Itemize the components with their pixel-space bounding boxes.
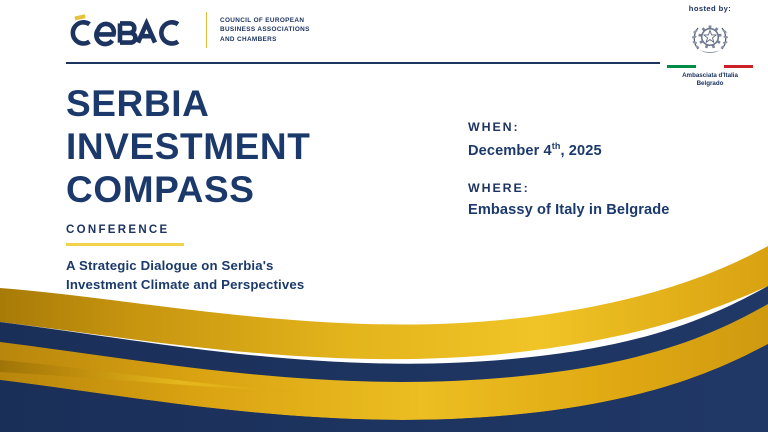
logo-divider xyxy=(206,12,207,48)
kicker-underline xyxy=(66,243,184,246)
poster-header: COUNCIL OF EUROPEAN BUSINESS ASSOCIATION… xyxy=(0,0,768,70)
italy-tricolor-icon xyxy=(667,65,753,68)
event-tagline: A Strategic Dialogue on Serbia's Investm… xyxy=(66,256,304,294)
where-group: WHERE: Embassy of Italy in Belgrade xyxy=(468,181,670,218)
conference-kicker: CONFERENCE xyxy=(66,224,184,236)
emblem-of-italy-icon xyxy=(687,16,733,62)
where-label: WHERE: xyxy=(468,181,670,195)
event-poster: COUNCIL OF EUROPEAN BUSINESS ASSOCIATION… xyxy=(0,0,768,432)
tricolor-white xyxy=(696,65,725,68)
embassy-caption: Ambasciata d'Italia Belgrado xyxy=(660,72,760,89)
tricolor-red xyxy=(724,65,753,68)
cebac-logo-tagline: COUNCIL OF EUROPEAN BUSINESS ASSOCIATION… xyxy=(220,16,310,44)
cebac-wordmark-icon xyxy=(66,11,194,49)
conference-kicker-group: CONFERENCE xyxy=(66,224,184,246)
when-date-rest: , 2025 xyxy=(561,143,602,159)
when-date-prefix: December 4 xyxy=(468,143,552,159)
when-date-ordinal: th xyxy=(552,141,561,151)
event-details: WHEN: December 4th, 2025 WHERE: Embassy … xyxy=(468,120,670,240)
tricolor-green xyxy=(667,65,696,68)
when-group: WHEN: December 4th, 2025 xyxy=(468,120,670,159)
when-value: December 4th, 2025 xyxy=(468,141,670,159)
when-label: WHEN: xyxy=(468,120,670,134)
header-rule xyxy=(66,62,660,64)
cebac-logo: COUNCIL OF EUROPEAN BUSINESS ASSOCIATION… xyxy=(66,11,310,49)
where-value: Embassy of Italy in Belgrade xyxy=(468,202,670,218)
page-title: SERBIA INVESTMENT COMPASS xyxy=(66,82,310,211)
hosted-by-label: hosted by: xyxy=(660,4,760,13)
hosted-by-block: hosted by: xyxy=(660,4,760,89)
